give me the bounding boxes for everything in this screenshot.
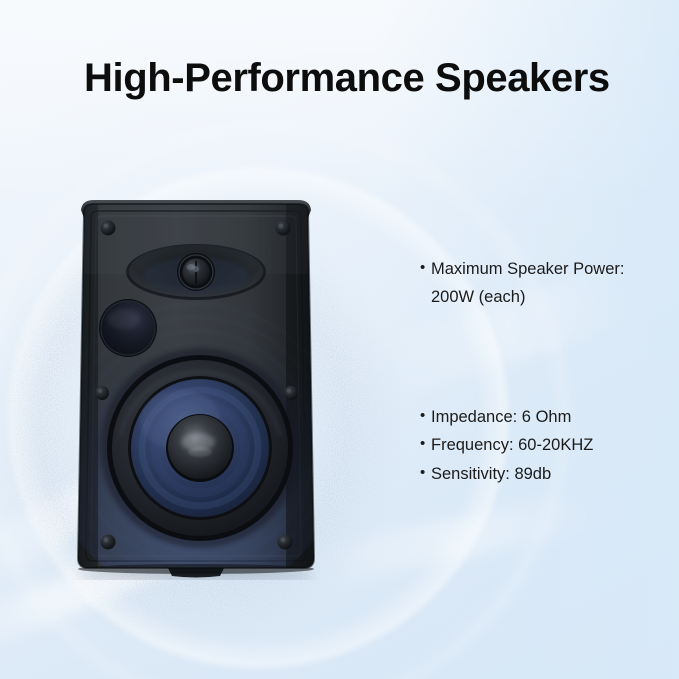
spec-group-secondary: • Impedance: 6 Ohm • Frequency: 60-20KHZ… [420,403,670,488]
screw-highlight [98,389,102,393]
speaker-product-image [72,198,320,580]
spec-item-frequency: • Frequency: 60-20KHZ [420,431,670,459]
screw-bottom-right [278,535,293,550]
spec-label: Sensitivity: 89db [431,460,551,488]
bullet-icon: • [420,431,431,457]
bullet-icon: • [420,255,431,281]
spec-item-max-power: • Maximum Speaker Power: [420,255,670,283]
page-title: High-Performance Speakers [84,56,610,101]
screw-top-left [101,221,116,236]
screw-mid-left [95,386,109,400]
screw-highlight [279,224,284,229]
screw-mid-right [284,386,298,400]
tweeter-highlight [187,264,196,270]
screw-highlight [281,538,286,543]
screw-bottom-left [101,535,116,550]
product-poster: High-Performance Speakers • Maximum Spea… [0,0,679,679]
spec-value-max-power: 200W (each) [420,283,670,311]
screw-top-right [276,221,291,236]
screw-highlight [104,538,109,543]
screw-highlight [287,389,291,393]
bullet-icon: • [420,403,431,429]
screw-highlight [104,224,109,229]
spec-item-impedance: • Impedance: 6 Ohm [420,403,670,431]
bullet-icon: • [420,460,431,486]
dust-cap-highlight [188,447,212,457]
bass-reflex-port [99,299,157,357]
tweeter-assembly [126,244,266,300]
spec-group-primary: • Maximum Speaker Power: 200W (each) [420,255,670,312]
woofer-assembly [100,348,300,548]
spec-label: Frequency: 60-20KHZ [431,431,593,459]
spec-item-sensitivity: • Sensitivity: 89db [420,460,670,488]
spec-label: Maximum Speaker Power: [431,255,624,283]
spec-label: Impedance: 6 Ohm [431,403,571,431]
port-highlight [107,309,141,329]
